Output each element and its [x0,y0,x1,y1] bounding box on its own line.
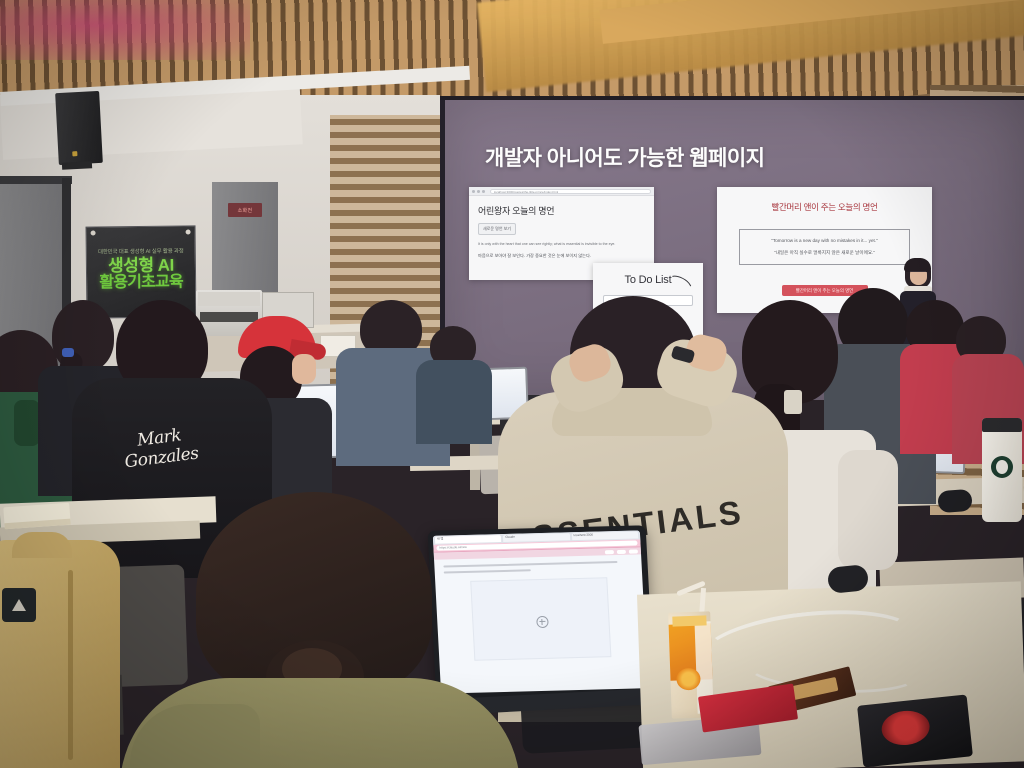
mouse-right-back [937,489,972,513]
fire-hydrant-sign-label: 소화전 [238,207,253,214]
snack-bag-graphic [880,709,931,748]
hair-claw-clip [784,390,802,414]
browser-chrome: localhost:3000/quotes/the-little-prince/… [469,187,654,196]
toolbar-chip-icon[interactable] [617,549,626,553]
anne-quote-ko: "내일은 아직 실수로 얼룩지지 않은 새로운 날이에요." [746,250,903,256]
toolbar-chip-icon[interactable] [629,549,638,553]
browser-dot-icon [482,190,485,193]
ceiling-pink-glow [0,0,250,60]
jacket-zipper [68,570,73,760]
printer-tray [200,312,258,322]
slide-title: 개발자 아니어도 가능한 웹페이지 [485,142,764,172]
anne-quote-button-label: 빨간머리 앤이 주는 오늘의 명언 [796,288,853,294]
add-icon[interactable] [536,616,549,628]
jacket-logo-patch-icon [2,588,36,622]
glasses-icon [910,271,926,276]
little-prince-heading: 어린왕자 오늘의 명언 [478,204,645,217]
toolbar-chip-icon[interactable] [605,550,614,554]
banner-brand [87,232,195,239]
anne-quote-box: "Tomorrow is a new day with no mistakes … [739,229,910,265]
wall-speaker [55,91,103,165]
little-prince-quote-en: It is only with the heart that one can s… [478,242,645,247]
browser-page-body: 어린왕자 오늘의 명언 새로운 명언 보기 It is only with th… [469,196,654,267]
classroom-photo: 관계자 외 출입금지 소화전 대한민국 대표 생성형 AI 실무 활용 과정 생… [0,0,1024,768]
student-torso [416,360,492,444]
banner-pin-right-icon [186,229,191,234]
fire-hydrant-sign: 소화전 [228,203,262,217]
presenter-hair [904,258,931,272]
banner-tagline: 대한민국 대표 생성형 AI 실무 활용 과정 [87,246,195,255]
page-canvas [470,577,611,660]
browser-dot-icon [472,190,475,193]
new-quote-button: 새로운 명언 보기 [478,223,516,235]
anne-quote-heading: 빨간머리 앤이 주는 오늘의 명언 [717,187,932,213]
snack-brand-text [710,707,714,716]
banner-title-line2: 활용기초교육 [87,274,195,292]
text-line [444,569,531,573]
patch-triangle-icon [12,599,26,611]
banner-pin-left-icon [91,230,96,235]
little-prince-quote-ko: 마음으로 보아야 잘 보인다. 가장 중요한 것은 눈에 보이지 않는다. [478,253,645,259]
student-scarf [14,400,40,446]
starbucks-tumbler [982,418,1022,522]
tumbler-lid [982,418,1022,432]
snack-bag-dark [857,694,973,767]
notebook [3,503,70,530]
student-face [292,354,316,384]
browser-dot-icon [477,190,480,193]
page-content [434,554,647,675]
laptop-lid: 새 탭 Claude localhost:3000 https://claude… [428,525,655,700]
anne-quote-en: "Tomorrow is a new day with no mistakes … [746,238,903,243]
starbucks-logo-icon [991,456,1013,478]
text-line [443,561,617,568]
tan-jacket-on-chair [0,540,120,768]
banner-title-line1: 생성형 AI [87,256,195,275]
hair-clip [62,348,74,357]
laptop-screen[interactable]: 새 탭 Claude localhost:3000 https://claude… [433,530,648,693]
browser-url-bar: localhost:3000/quotes/the-little-prince/… [490,189,651,194]
juice-carton-top [672,615,706,626]
jacket-hood [12,532,72,558]
laptop-foreground[interactable]: 새 탭 Claude localhost:3000 https://claude… [432,528,662,718]
student-sleeve [838,450,898,570]
speaker-led-icon [72,151,77,156]
printer-lid [198,292,260,306]
